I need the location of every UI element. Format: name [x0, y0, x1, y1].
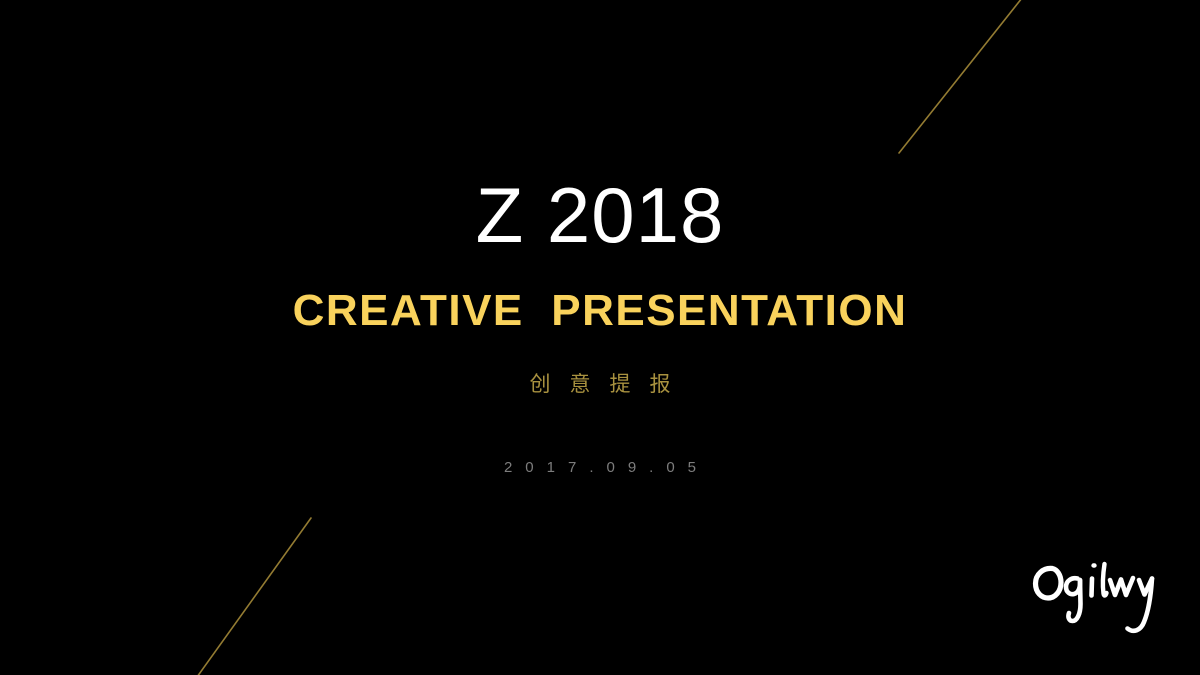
presentation-title-slide: Z 2018 CREATIVE PRESENTATION 创意提报 2017.0…	[0, 0, 1200, 675]
ogilvy-logo	[1022, 552, 1162, 647]
slide-content: Z 2018 CREATIVE PRESENTATION 创意提报 2017.0…	[0, 0, 1200, 675]
subtitle-english: CREATIVE PRESENTATION	[0, 286, 1200, 336]
page-title: Z 2018	[0, 171, 1200, 259]
subtitle-chinese: 创意提报	[0, 369, 1200, 399]
presentation-date: 2017.09.05	[0, 457, 1200, 479]
ogilvy-logo-icon	[1022, 552, 1162, 647]
